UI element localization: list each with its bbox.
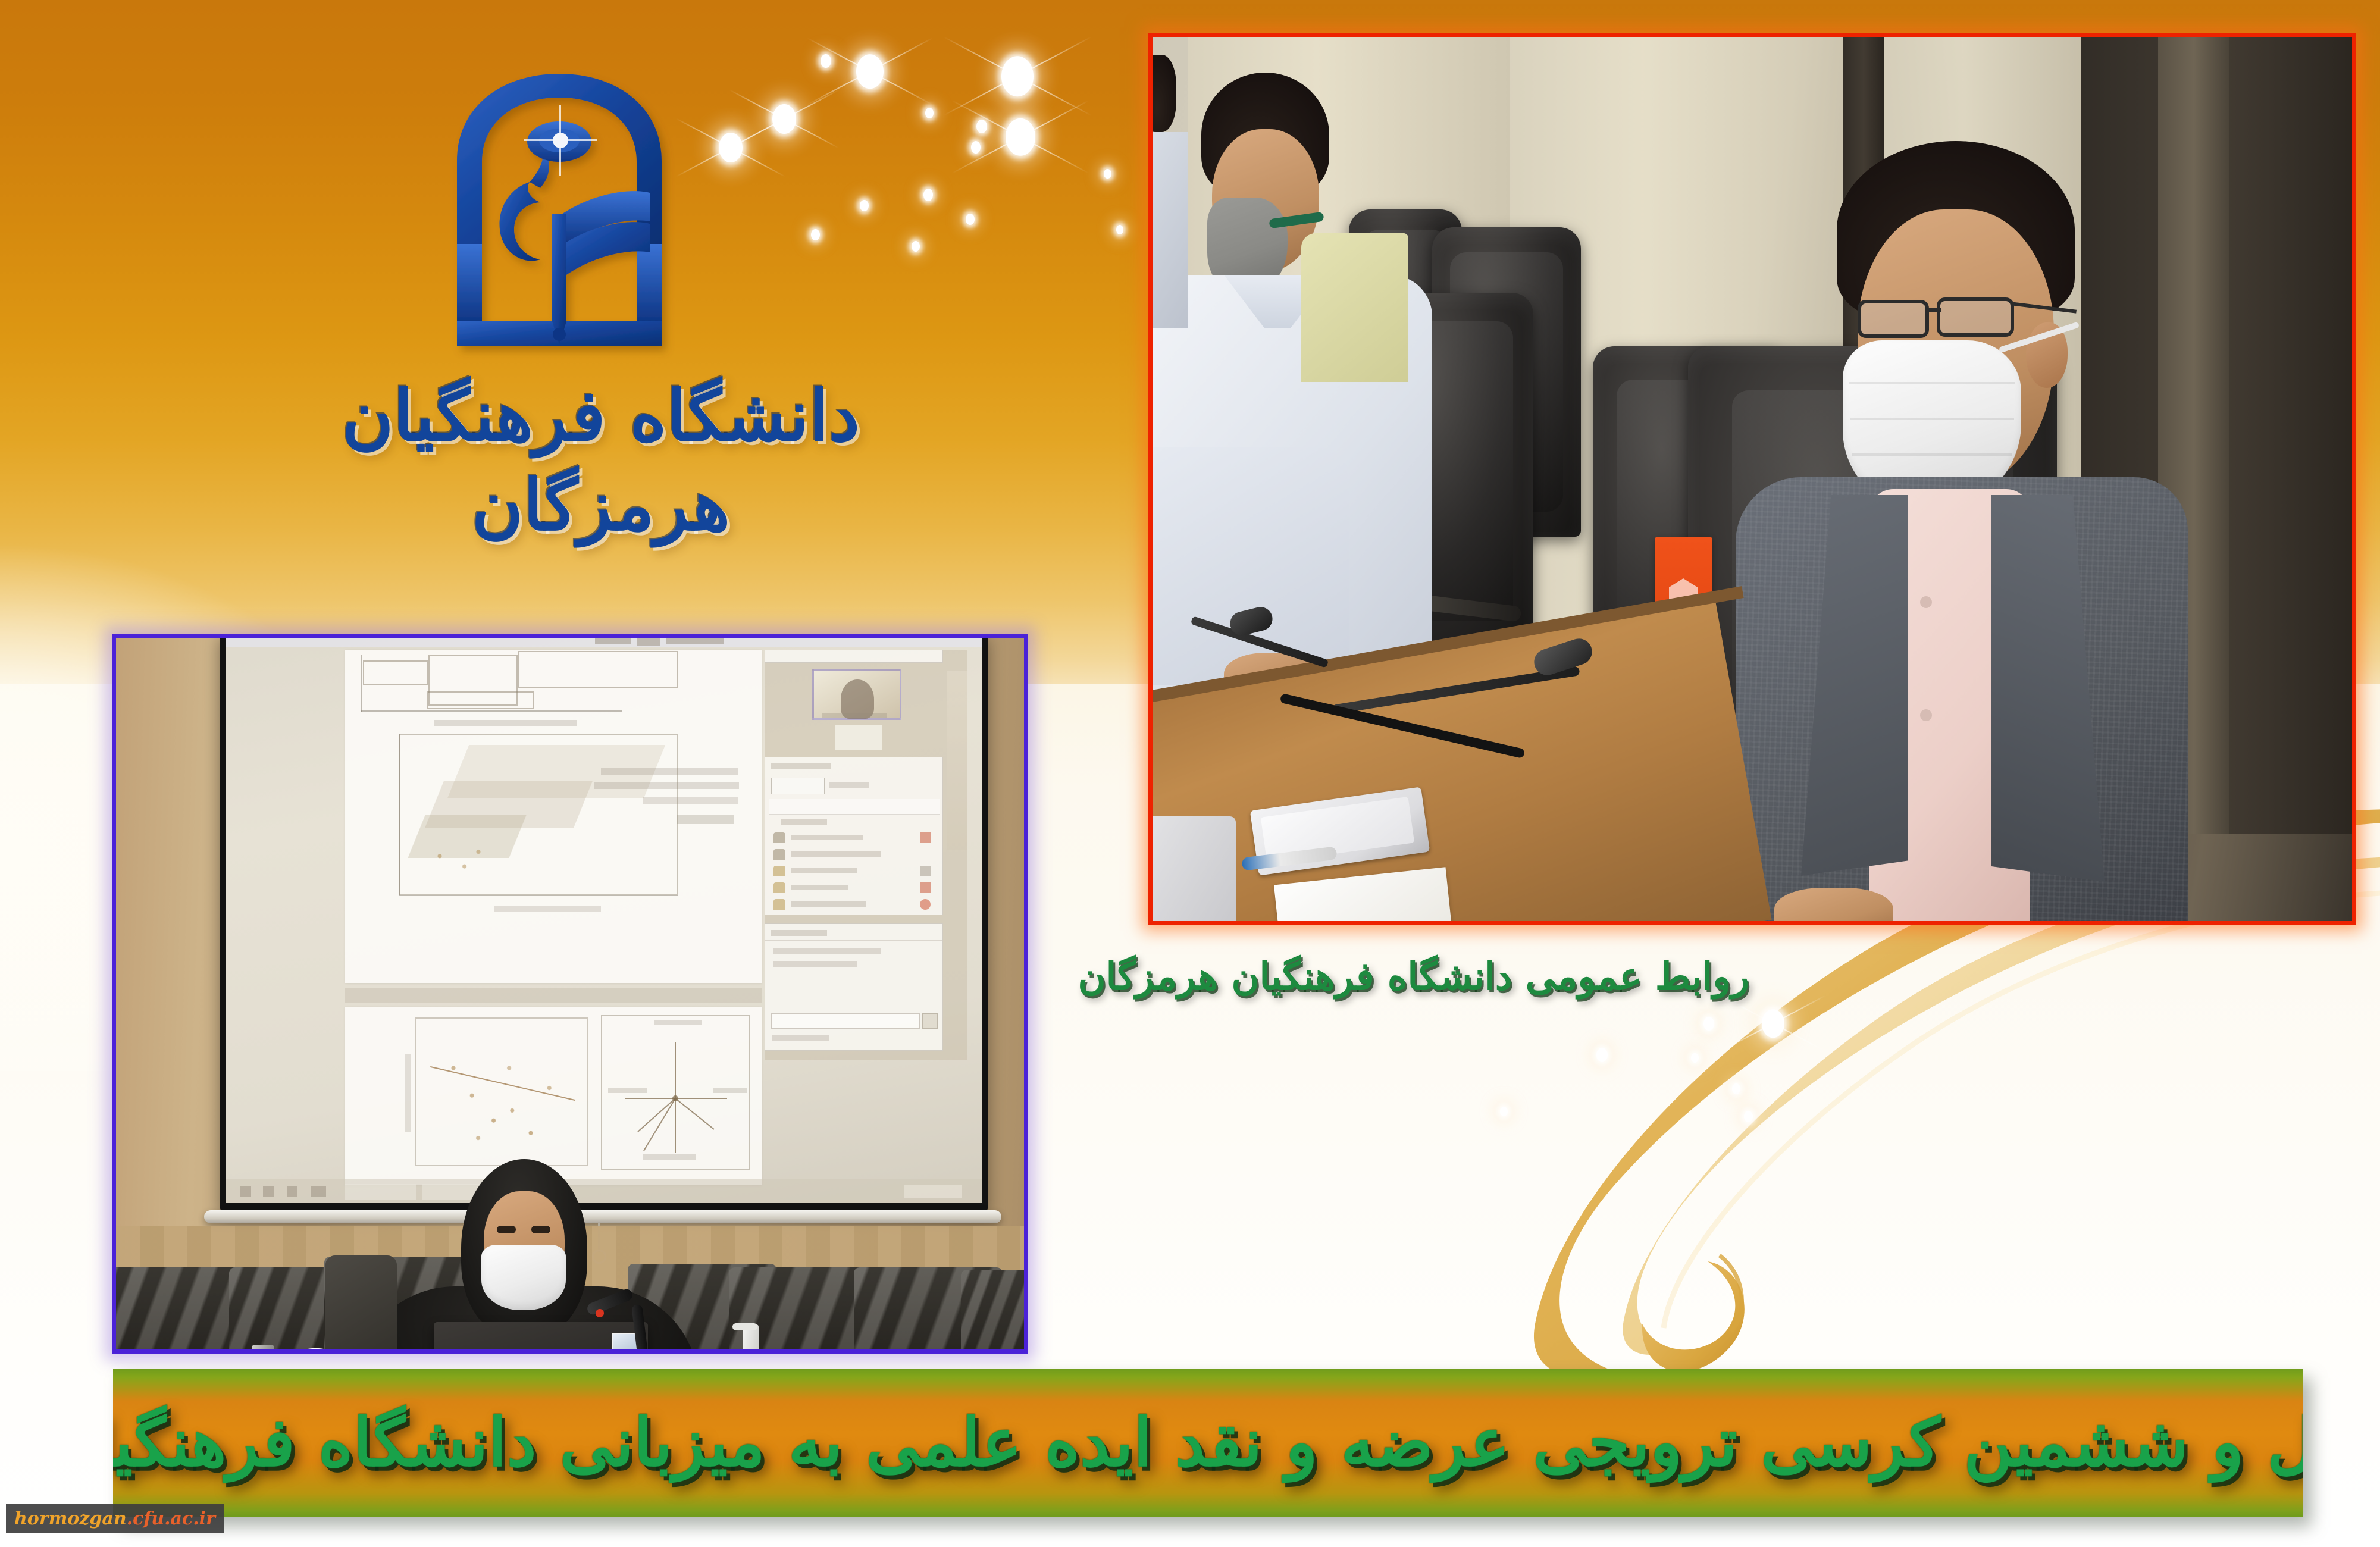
photo2-attendee-icon-5[interactable]	[920, 899, 931, 910]
logo-text-line-2: هرمزگان	[333, 470, 869, 540]
photo2-star-label-left	[608, 1088, 647, 1093]
photo2-taskbar-icon-3[interactable]	[287, 1186, 297, 1197]
conference-room-photo	[1148, 33, 2356, 925]
photo2-chart2-xaxis	[399, 895, 678, 896]
sparkle-dot	[1500, 1107, 1508, 1117]
photo2-chat-footer-label	[772, 1035, 829, 1041]
photo2-hand-sanitizer-nozzle	[732, 1323, 757, 1330]
poster-root: دانشگاه فرهنگیان هرمزگان	[0, 0, 2380, 1547]
photo2-chat-message-2	[773, 961, 857, 967]
sparkle-dot	[923, 189, 933, 201]
photo2-chat-input[interactable]	[771, 1013, 920, 1029]
photo2-screen-roller	[204, 1210, 1001, 1223]
photo2-attendee-name-1	[791, 835, 863, 840]
photo2-toolbar-btn-1	[595, 635, 631, 644]
photo1-personMain-shirt-button-2	[1920, 709, 1932, 721]
photo2-chat-panel	[765, 923, 943, 1051]
photo2-screen-frame	[220, 634, 988, 1210]
farhangian-university-emblem-icon	[434, 65, 684, 375]
photo2-taskbar-icon-2[interactable]	[263, 1186, 274, 1197]
photo2-attendee-icon-4[interactable]	[920, 882, 931, 893]
photo2-chart1-yaxis	[361, 654, 362, 712]
photo2-toolbar-btn-3	[666, 635, 724, 644]
photo2-attendee-avatar-3	[773, 866, 785, 876]
photo2-microphone-led	[596, 1309, 604, 1317]
site-watermark: hormozgan.cfu.ac.ir	[6, 1504, 224, 1533]
photo2-attendees-group-label	[781, 819, 827, 825]
sparkle-dot	[966, 214, 975, 226]
photo1-personMain-mask-pleat-2	[1850, 418, 2014, 420]
photo1-personMain-glasses-left	[1858, 300, 1929, 338]
sparkle-dot	[1732, 1083, 1740, 1094]
photo2-presenter-chair-back	[325, 1255, 397, 1354]
photo2-attendee-icon-3[interactable]	[920, 866, 931, 876]
photo2-chart2-xlabel	[494, 906, 601, 912]
photo2-thermos-flask	[252, 1345, 274, 1354]
watermark-site-name: hormozgan	[14, 1508, 127, 1529]
photo2-webinar-sidebar	[765, 650, 967, 1060]
photo1-personB-yellow-garment	[1301, 233, 1408, 382]
photo2-star-label-bottom	[643, 1154, 696, 1160]
photo2-attendees-status-box[interactable]	[771, 778, 825, 794]
photo2-slide-card-bottom	[345, 1007, 762, 1185]
sparkle-dot	[971, 141, 981, 154]
photo2-taskbar	[226, 1179, 982, 1203]
sparkle-dot	[1596, 1048, 1608, 1063]
photo2-attendees-title	[771, 763, 831, 769]
photo2-slide-caption-line1	[601, 768, 738, 775]
photo2-attendee-row-1[interactable]	[773, 830, 937, 845]
photo2-slide-reference	[643, 797, 738, 804]
public-relations-credit: روابط عمومی دانشگاه فرهنگیان هرمزگان	[1119, 941, 1749, 1013]
photo2-attendee-name-3	[791, 868, 857, 873]
photo2-slide-caption-line2	[594, 782, 739, 789]
university-logo-block: دانشگاه فرهنگیان هرمزگان	[333, 65, 869, 583]
photo2-presenter-eye-right	[531, 1226, 550, 1233]
photo2-sofa-seat-left-1	[112, 1267, 241, 1354]
photo1-personMain-shirt-button-1	[1920, 596, 1932, 608]
photo2-chat-message-1	[773, 948, 881, 954]
photo1-personMain-hand	[1774, 888, 1893, 925]
photo2-chart1-box-3	[518, 651, 678, 688]
photo2-chart2-yaxis	[399, 734, 400, 895]
photo2-attendees-status-text	[829, 782, 869, 788]
photo2-attendee-row-4[interactable]	[773, 880, 937, 895]
photo2-toolbar-btn-2	[637, 634, 660, 646]
photo1-laptop-edge	[1148, 816, 1236, 925]
photo2-slide-figure-label	[677, 815, 734, 824]
photo2-attendee-avatar-2	[773, 849, 785, 860]
sparkle-dot	[912, 241, 920, 252]
presentation-room-photo: Lenovo	[112, 634, 1028, 1354]
photo1-personC-shirt-edge	[1148, 132, 1188, 328]
photo2-chat-send-button[interactable]	[922, 1013, 938, 1029]
photo2-chart3-ylabel	[405, 1054, 411, 1132]
photo2-taskbar-window-1[interactable]	[345, 1184, 416, 1200]
photo2-slide-card-top	[345, 650, 762, 983]
photo2-slide-tools	[345, 988, 762, 1003]
photo2-star-label-right	[713, 1088, 747, 1093]
photo1-personMain-mask-pleat-1	[1849, 382, 2015, 384]
photo2-chart1-xlabel	[434, 720, 577, 726]
photo2-taskbar-clock	[904, 1185, 962, 1198]
sparkle-dot	[1691, 1053, 1699, 1063]
sparkle-dot	[1116, 225, 1123, 234]
photo2-attendee-avatar-1	[773, 832, 785, 843]
sparkle-dot	[1104, 169, 1111, 179]
photo2-hand-sanitizer-bottle	[730, 1349, 773, 1354]
photo2-presenter-face-mask	[481, 1245, 566, 1310]
logo-text-line-1: دانشگاه فرهنگیان	[333, 381, 869, 451]
photo2-presenter-eye-left	[497, 1226, 516, 1233]
photo2-attendee-row-5[interactable]	[773, 897, 937, 912]
photo2-taskbar-icon-1[interactable]	[240, 1186, 251, 1197]
photo2-screen-canvas	[226, 634, 982, 1203]
photo2-chart2-scatter-cluster	[416, 839, 494, 882]
photo1-personC-hair-edge	[1148, 55, 1176, 132]
photo2-attendees-panel	[765, 757, 943, 915]
photo1-personMain-glasses-right	[1937, 297, 2014, 337]
photo2-chart1-box-1	[363, 660, 428, 685]
photo2-chat-title	[771, 930, 827, 936]
photo1-personMain-glasses-bridge	[1928, 308, 1941, 312]
photo2-attendee-avatar-5	[773, 899, 785, 910]
watermark-domain: .cfu.ac.ir	[127, 1508, 215, 1529]
photo2-laptop: Lenovo	[434, 1322, 648, 1354]
photo2-webinar-video-name	[822, 713, 887, 718]
photo2-attendee-name-4	[791, 885, 848, 890]
sparkle-dot	[925, 108, 934, 118]
photo2-attendee-avatar-4	[773, 882, 785, 893]
photo2-webinar-right-buttons[interactable]	[947, 671, 967, 850]
photo2-chart1-box-4	[427, 691, 534, 709]
photo1-personA-sleeve	[1153, 447, 1349, 685]
photo2-chart1-xaxis	[361, 710, 622, 712]
photo2-star-label-top	[654, 1020, 702, 1025]
photo2-webinar-topbar[interactable]	[765, 650, 943, 663]
photo2-taskbar-icon-4[interactable]	[311, 1186, 326, 1197]
photo2-attendee-name-5	[791, 901, 866, 907]
photo2-webinar-mic-indicator	[835, 725, 882, 750]
event-title-banner: برگزاری چهل و ششمین کرسی ترویجی عرضه و ن…	[113, 1368, 2303, 1517]
sparkle-dot	[1744, 1111, 1753, 1123]
photo2-sofa-seat-right-4	[961, 1270, 1028, 1354]
event-title-text: برگزاری چهل و ششمین کرسی ترویجی عرضه و ن…	[113, 1410, 2303, 1476]
photo2-attendee-name-2	[791, 851, 881, 857]
photo2-attendees-search-row[interactable]	[769, 799, 940, 815]
photo2-attendee-row-2[interactable]	[773, 847, 937, 862]
photo1-personMain-mask-pleat-3	[1852, 453, 2012, 456]
photo2-attendee-row-3[interactable]	[773, 863, 937, 879]
photo2-attendee-icon-1[interactable]	[920, 832, 931, 843]
photo2-chart3-scatter	[422, 1031, 577, 1155]
